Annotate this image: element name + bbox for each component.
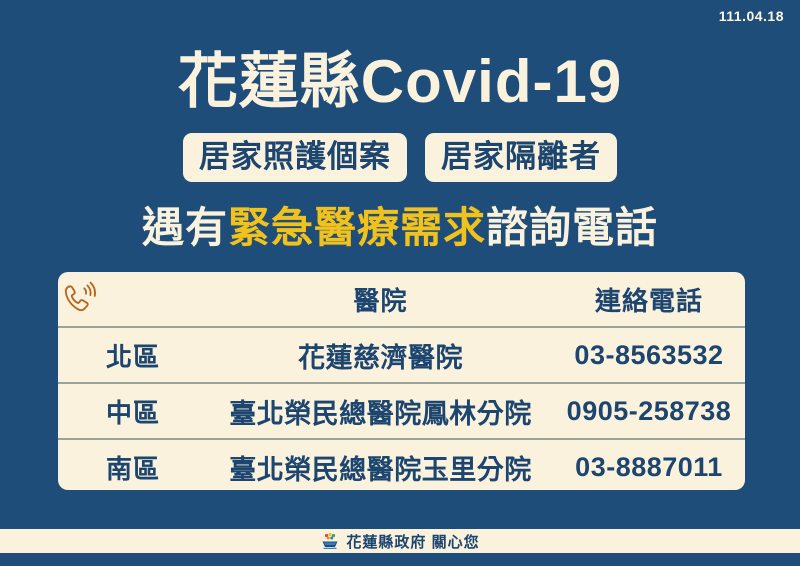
pill-home-isolation-person: 居家隔離者 (425, 133, 617, 182)
page-title: 花蓮縣Covid-19 (0, 48, 800, 116)
table-row: 南區 臺北榮民總醫院玉里分院 03-8887011 (58, 439, 745, 490)
row-region-label: 中區 (58, 393, 208, 430)
pill-home-care-case: 居家照護個案 (183, 133, 407, 182)
column-header-hospital-label: 醫院 (208, 281, 553, 318)
subtitle-highlight: 緊急醫療需求 (228, 204, 486, 251)
row-phone-label[interactable]: 03-8887011 (553, 452, 745, 483)
poster-canvas: 111.04.18 花蓮縣Covid-19 居家照護個案 居家隔離者 遇有緊急醫… (0, 0, 800, 566)
row-region-cell: 南區 (58, 439, 208, 490)
row-hospital-cell: 臺北榮民總醫院鳳林分院 (208, 383, 553, 439)
column-header-hospital: 醫院 (208, 272, 553, 327)
hualien-county-government-logo-icon (320, 532, 340, 550)
row-region-label: 北區 (58, 337, 208, 374)
row-region-cell: 北區 (58, 327, 208, 383)
row-hospital-label: 花蓮慈濟醫院 (208, 336, 553, 375)
row-hospital-cell: 花蓮慈濟醫院 (208, 327, 553, 383)
row-hospital-label: 臺北榮民總醫院玉里分院 (208, 448, 553, 487)
hospital-contact-table: 醫院 連絡電話 北區 花蓮慈濟醫院 03-8563532 (58, 272, 745, 490)
row-phone-label[interactable]: 03-8563532 (553, 340, 745, 371)
table-row: 北區 花蓮慈濟醫院 03-8563532 (58, 327, 745, 383)
category-pill-row: 居家照護個案 居家隔離者 (0, 133, 800, 182)
column-header-phone-label: 連絡電話 (553, 281, 745, 318)
footer-text: 花蓮縣政府 關心您 (346, 531, 479, 552)
hospital-contact-card: 醫院 連絡電話 北區 花蓮慈濟醫院 03-8563532 (58, 272, 745, 490)
phone-ringing-icon (58, 278, 100, 320)
row-region-label: 南區 (58, 449, 208, 486)
date-stamp: 111.04.18 (719, 8, 784, 24)
table-header-row: 醫院 連絡電話 (58, 272, 745, 327)
row-region-cell: 中區 (58, 383, 208, 439)
row-phone-cell: 0905-258738 (553, 383, 745, 439)
row-hospital-label: 臺北榮民總醫院鳳林分院 (208, 392, 553, 431)
phone-ringing-icon-cell (58, 272, 208, 327)
column-header-phone: 連絡電話 (553, 272, 745, 327)
table-row: 中區 臺北榮民總醫院鳳林分院 0905-258738 (58, 383, 745, 439)
footer-bar: 花蓮縣政府 關心您 (0, 529, 800, 553)
subtitle-prefix: 遇有 (142, 204, 228, 251)
subtitle-suffix: 諮詢電話 (486, 204, 658, 251)
row-phone-label[interactable]: 0905-258738 (553, 396, 745, 427)
subtitle: 遇有緊急醫療需求諮詢電話 (0, 203, 800, 253)
row-hospital-cell: 臺北榮民總醫院玉里分院 (208, 439, 553, 490)
row-phone-cell: 03-8563532 (553, 327, 745, 383)
row-phone-cell: 03-8887011 (553, 439, 745, 490)
